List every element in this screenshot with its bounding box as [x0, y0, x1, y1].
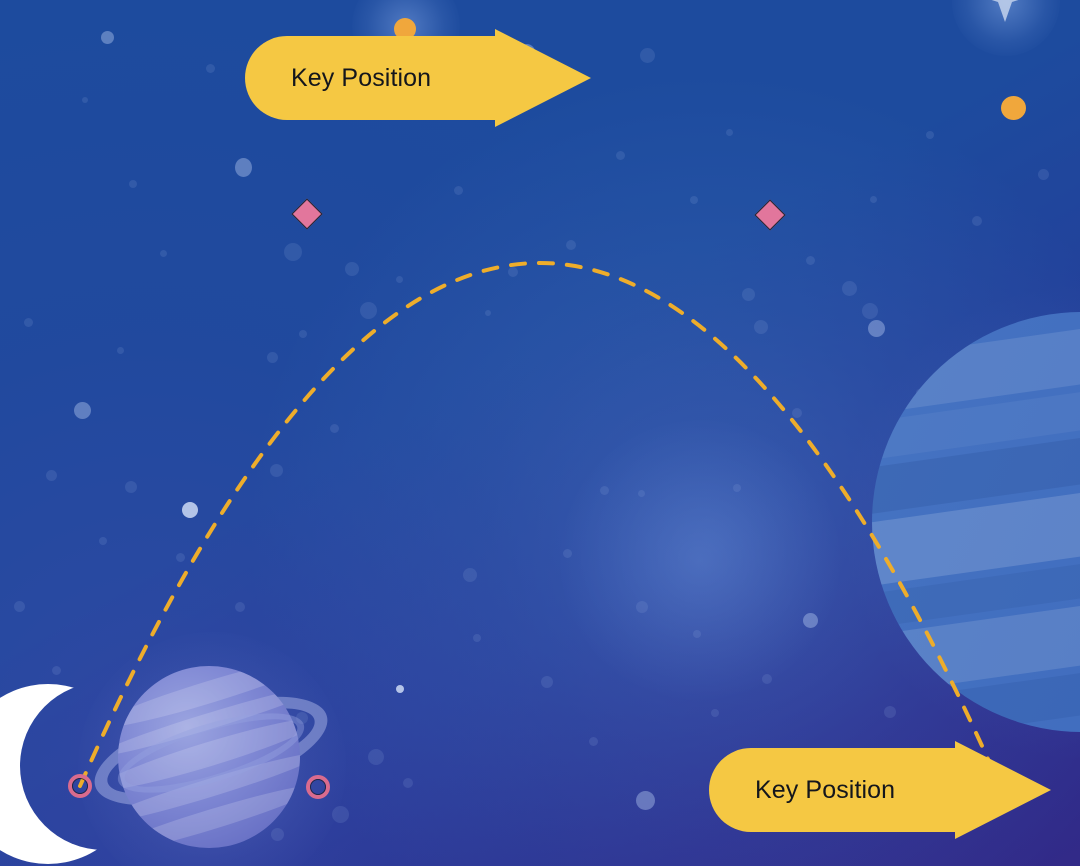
corner-star-glow	[952, 0, 1060, 56]
ascent-marker[interactable]	[291, 198, 322, 229]
orange-star-icon	[1001, 96, 1026, 120]
arrow-head-icon	[955, 741, 1051, 839]
crescent-moon	[0, 682, 140, 866]
reference-marker[interactable]	[306, 775, 330, 799]
gas-giant-planet	[872, 312, 1080, 732]
space-trajectory-scene: Key Position Key Position	[0, 0, 1080, 866]
callout-label: Key Position	[755, 776, 895, 805]
landing-key-position-callout[interactable]: Key Position	[709, 748, 1051, 832]
apex-key-position-callout[interactable]: Key Position	[245, 36, 591, 120]
callout-label: Key Position	[291, 64, 431, 93]
four-point-star-icon	[975, 0, 1035, 26]
arrow-head-icon	[495, 29, 591, 127]
launch-marker[interactable]	[68, 774, 92, 798]
center-nebula-glow	[560, 420, 840, 700]
callout-shaft: Key Position	[245, 36, 497, 120]
descent-marker[interactable]	[754, 199, 785, 230]
callout-shaft: Key Position	[709, 748, 957, 832]
